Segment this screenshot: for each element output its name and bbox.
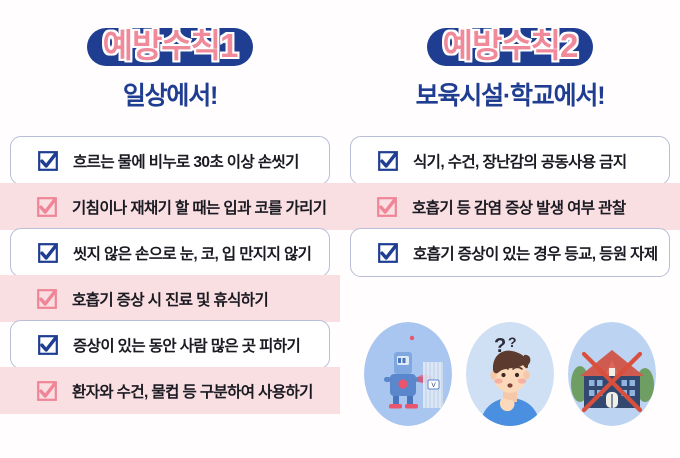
illustration-group: V ? ? bbox=[340, 322, 680, 426]
left-banner-pill: 예방수칙1 예방수칙1 bbox=[87, 28, 254, 66]
list-item-label: 환자와 수건, 물컵 등 구분하여 사용하기 bbox=[72, 380, 313, 402]
prevention-column-daily-life: 예방수칙1 예방수칙1 일상에서! 흐르는 물에 비누로 30초 이상 손씻기 bbox=[0, 0, 340, 458]
list-item-label: 씻지 않은 손으로 눈, 코, 입 만지지 않기 bbox=[73, 242, 311, 264]
robot-sanitizer-illustration: V bbox=[364, 322, 452, 426]
list-item-label: 기침이나 재채기 할 때는 입과 코를 가리기 bbox=[72, 196, 326, 218]
check-box-icon bbox=[377, 150, 399, 172]
check-box-icon bbox=[36, 380, 58, 402]
list-item: 호흡기 등 감염 증상 발생 여부 관찰 bbox=[340, 183, 680, 230]
prevention-column-school: 예방수칙2 예방수칙2 보육시설·학교에서! 식기, 수건, 장난감의 공동사용… bbox=[340, 0, 680, 458]
right-subtitle: 보육시설·학교에서! bbox=[340, 76, 680, 112]
list-item-label: 증상이 있는 동안 사람 많은 곳 피하기 bbox=[73, 334, 300, 356]
confused-person-illustration: ? ? bbox=[466, 322, 554, 426]
list-item-label: 호흡기 증상이 있는 경우 등교, 등원 자제 bbox=[413, 242, 658, 264]
left-header: 예방수칙1 예방수칙1 일상에서! bbox=[0, 0, 340, 128]
svg-text:?: ? bbox=[508, 334, 517, 350]
svg-text:V: V bbox=[431, 382, 436, 389]
left-banner: 예방수칙1 예방수칙1 bbox=[0, 16, 340, 68]
list-item: 호흡기 증상이 있는 경우 등교, 등원 자제 bbox=[350, 228, 670, 277]
list-item: 호흡기 증상 시 진료 및 휴식하기 bbox=[0, 275, 340, 322]
right-banner: 예방수칙2 예방수칙2 bbox=[340, 16, 680, 68]
right-banner-label: 예방수칙2 bbox=[443, 19, 578, 67]
list-item: 씻지 않은 손으로 눈, 코, 입 만지지 않기 bbox=[10, 228, 330, 277]
left-subtitle: 일상에서! bbox=[0, 76, 340, 112]
check-box-icon bbox=[376, 196, 398, 218]
right-checklist: 식기, 수건, 장난감의 공동사용 금지 호흡기 등 감염 증상 발생 여부 관… bbox=[340, 136, 680, 277]
left-checklist: 흐르는 물에 비누로 30초 이상 손씻기 기침이나 재채기 할 때는 입과 코… bbox=[0, 136, 340, 414]
list-item-label: 호흡기 등 감염 증상 발생 여부 관찰 bbox=[412, 196, 625, 218]
list-item-label: 흐르는 물에 비누로 30초 이상 손씻기 bbox=[73, 150, 299, 172]
list-item: 식기, 수건, 장난감의 공동사용 금지 bbox=[350, 136, 670, 185]
check-box-icon bbox=[37, 150, 59, 172]
list-item: 흐르는 물에 비누로 30초 이상 손씻기 bbox=[10, 136, 330, 185]
list-item-label: 호흡기 증상 시 진료 및 휴식하기 bbox=[72, 288, 268, 310]
check-box-icon bbox=[377, 242, 399, 264]
list-item: 기침이나 재채기 할 때는 입과 코를 가리기 bbox=[0, 183, 340, 230]
right-banner-pill: 예방수칙2 예방수칙2 bbox=[427, 28, 594, 66]
check-box-icon bbox=[37, 242, 59, 264]
school-closed-illustration bbox=[568, 322, 656, 426]
check-box-icon bbox=[37, 334, 59, 356]
check-box-icon bbox=[36, 196, 58, 218]
right-header: 예방수칙2 예방수칙2 보육시설·학교에서! bbox=[340, 0, 680, 128]
check-box-icon bbox=[36, 288, 58, 310]
list-item-label: 식기, 수건, 장난감의 공동사용 금지 bbox=[413, 150, 626, 172]
list-item: 증상이 있는 동안 사람 많은 곳 피하기 bbox=[10, 320, 330, 369]
left-banner-label: 예방수칙1 bbox=[103, 19, 238, 67]
infographic-page: 예방수칙1 예방수칙1 일상에서! 흐르는 물에 비누로 30초 이상 손씻기 bbox=[0, 0, 680, 458]
list-item: 환자와 수건, 물컵 등 구분하여 사용하기 bbox=[0, 367, 340, 414]
